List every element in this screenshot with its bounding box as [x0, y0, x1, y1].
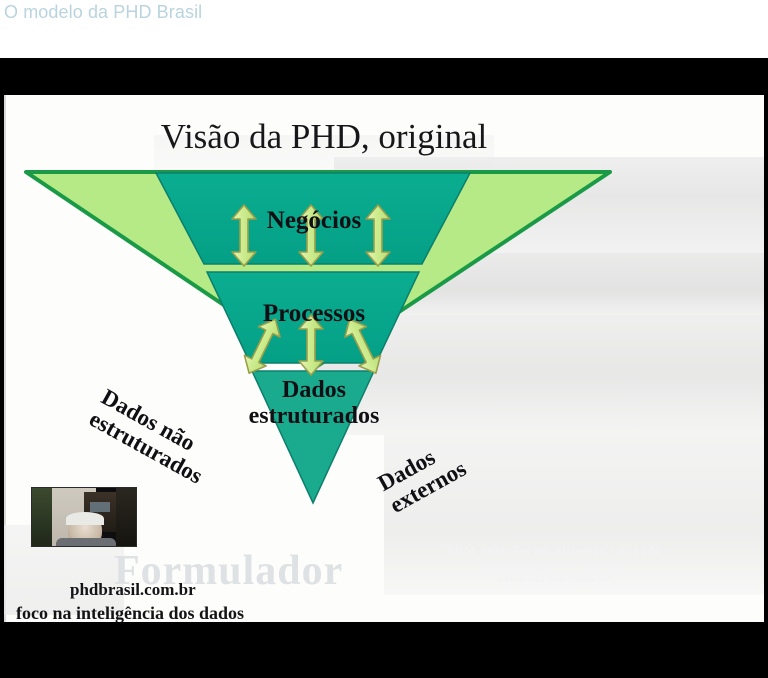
video-player[interactable]: Visão da PHD, original — [0, 58, 768, 678]
layer-label-dados-line1: Dados — [4, 377, 624, 404]
watermark-company-city: 04150-021 São Paulo SP — [409, 573, 699, 585]
layer-label-processos: Processos — [4, 300, 624, 328]
webcam-person-body — [56, 538, 116, 547]
page-title: O modelo da PHD Brasil — [4, 2, 202, 23]
watermark-company-address: SRM Soluções em Sistemas S/C Ltda Rua Pa… — [409, 543, 699, 585]
page-title-bar: O modelo da PHD Brasil — [0, 0, 768, 58]
footer-website: phdbrasil.com.br — [70, 580, 196, 600]
screenshot-root: O modelo da PHD Brasil Visão da PHD, ori… — [0, 0, 768, 678]
watermark-company-name: SRM Soluções em Sistemas S/C Ltda — [409, 543, 699, 559]
presentation-slide: Visão da PHD, original — [4, 95, 764, 622]
webcam-person-hair — [66, 512, 104, 525]
layer-label-negocios: Negócios — [4, 207, 624, 235]
webcam-bg-left — [32, 488, 54, 546]
presenter-webcam-thumbnail[interactable] — [31, 487, 137, 547]
watermark-company-street: Rua Padre Ignacio Ocioso, 232 — [409, 560, 699, 572]
footer-tagline: foco na inteligência dos dados — [16, 603, 244, 622]
webcam-bg-right — [116, 488, 136, 546]
webcam-bg-door-light — [90, 502, 110, 512]
